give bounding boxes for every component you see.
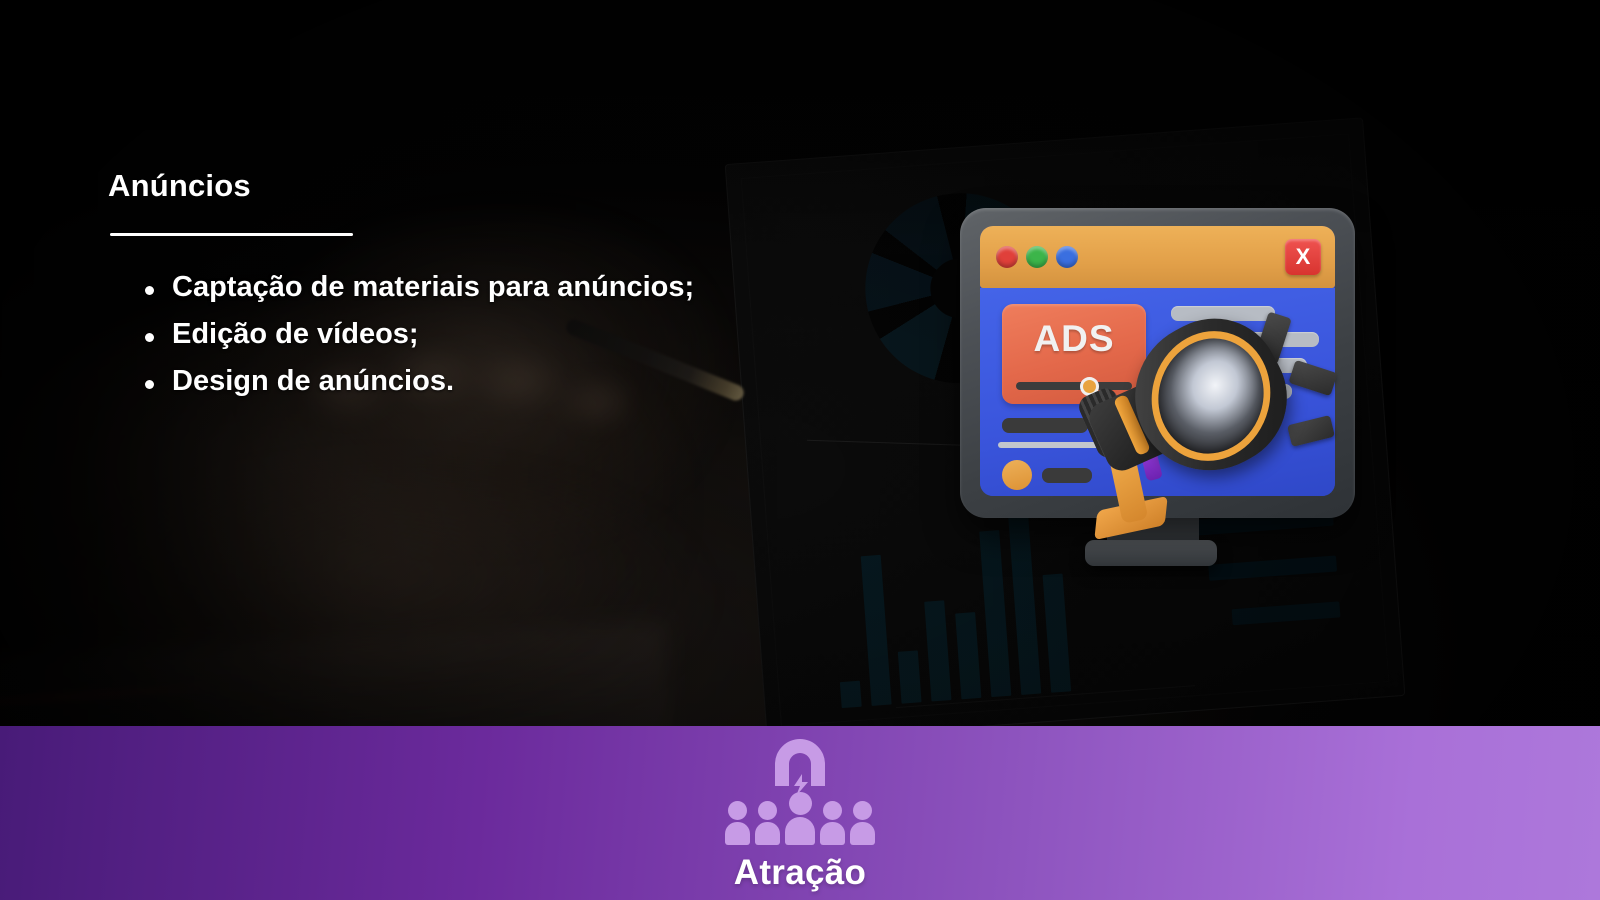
- red-dot-icon: [996, 246, 1018, 268]
- people-group-icon: [725, 792, 875, 845]
- orange-dot-icon: [1002, 460, 1032, 490]
- ads-monitor-illustration: X ADS: [955, 200, 1375, 600]
- magnet-icon: [763, 734, 837, 800]
- megaphone-icon: [1073, 308, 1333, 548]
- title-underline: [110, 233, 353, 236]
- slide: Anúncios Captação de materiais para anún…: [0, 0, 1600, 900]
- person-icon: [850, 801, 875, 845]
- list-item: Edição de vídeos;: [128, 311, 708, 358]
- page-title: Anúncios: [108, 168, 251, 204]
- blue-dot-icon: [1056, 246, 1078, 268]
- list-item: Design de anúncios.: [128, 358, 708, 405]
- background-bar: [955, 612, 981, 699]
- person-icon: [785, 792, 815, 845]
- window-titlebar: X: [980, 226, 1335, 288]
- bottom-banner: Atração: [0, 726, 1600, 900]
- bullet-list: Captação de materiais para anúncios; Edi…: [128, 264, 708, 405]
- background-bar: [840, 681, 862, 708]
- person-icon: [820, 801, 845, 845]
- background-hbar: [1232, 601, 1341, 625]
- person-icon: [725, 801, 750, 845]
- green-dot-icon: [1026, 246, 1048, 268]
- attraction-badge: Atração: [725, 734, 875, 893]
- list-item: Captação de materiais para anúncios;: [128, 264, 708, 311]
- background-bar: [924, 600, 951, 701]
- motion-mark: [1287, 415, 1335, 447]
- close-icon[interactable]: X: [1285, 239, 1321, 275]
- banner-label: Atração: [734, 853, 866, 893]
- motion-mark: [1288, 360, 1337, 396]
- background-bar: [861, 555, 892, 706]
- background-bar: [898, 650, 922, 703]
- person-icon: [755, 801, 780, 845]
